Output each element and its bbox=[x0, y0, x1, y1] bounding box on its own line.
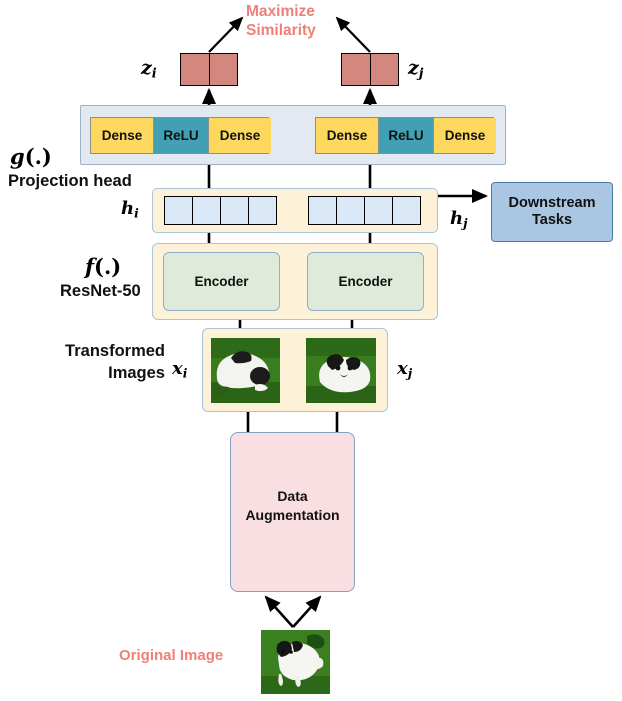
projection-head-caption: Projection head bbox=[8, 172, 132, 190]
h-j-cell bbox=[364, 197, 392, 224]
h-j-cell bbox=[336, 197, 364, 224]
x-j-label: xj bbox=[397, 358, 412, 380]
encoder-right-box: Encoder bbox=[307, 252, 424, 311]
z-i-label: zi bbox=[141, 57, 157, 82]
h-i-cell bbox=[248, 197, 276, 224]
h-j-label: hj bbox=[450, 208, 468, 230]
projection-head-function-symbol: g(.) bbox=[10, 144, 52, 169]
dense-layer: Dense bbox=[91, 118, 153, 153]
x-i-label: xi bbox=[172, 358, 187, 380]
z-j-vector bbox=[341, 53, 399, 86]
transformed-image-xi bbox=[211, 338, 280, 403]
z-j-cell bbox=[370, 54, 399, 85]
projection-head-right-mlp: Dense ReLU Dense bbox=[315, 117, 494, 154]
original-image-caption: Original Image bbox=[119, 648, 223, 665]
data-augmentation-label: Data Augmentation bbox=[230, 487, 355, 525]
transformed-image-xj bbox=[306, 338, 376, 403]
z-j-cell bbox=[342, 54, 370, 85]
dense-layer: Dense bbox=[433, 118, 496, 153]
z-i-cell bbox=[209, 54, 238, 85]
projection-head-left-mlp: Dense ReLU Dense bbox=[90, 117, 269, 154]
diagram-canvas: Maximize Similarity zi zj Dense ReLU Den… bbox=[0, 0, 622, 701]
h-i-cell bbox=[220, 197, 248, 224]
encoder-caption: ResNet-50 bbox=[60, 282, 141, 300]
h-i-vector bbox=[164, 196, 277, 225]
downstream-tasks-box[interactable]: Downstream Tasks bbox=[491, 182, 613, 242]
maximize-similarity-label: Maximize Similarity bbox=[246, 2, 376, 41]
original-image-photo bbox=[261, 630, 330, 694]
h-j-cell bbox=[309, 197, 336, 224]
dense-layer: Dense bbox=[208, 118, 271, 153]
z-i-cell bbox=[181, 54, 209, 85]
z-j-label: zj bbox=[408, 57, 423, 82]
h-j-vector bbox=[308, 196, 421, 225]
h-j-cell bbox=[392, 197, 420, 224]
encoder-left-box: Encoder bbox=[163, 252, 280, 311]
h-i-cell bbox=[165, 197, 192, 224]
dense-layer: Dense bbox=[316, 118, 378, 153]
h-i-label: hi bbox=[121, 198, 139, 220]
transformed-images-caption: Transformed Images bbox=[35, 340, 165, 385]
z-i-vector bbox=[180, 53, 238, 86]
h-i-cell bbox=[192, 197, 220, 224]
encoder-function-symbol: f(.) bbox=[85, 254, 121, 279]
relu-layer: ReLU bbox=[153, 118, 208, 153]
relu-layer: ReLU bbox=[378, 118, 433, 153]
